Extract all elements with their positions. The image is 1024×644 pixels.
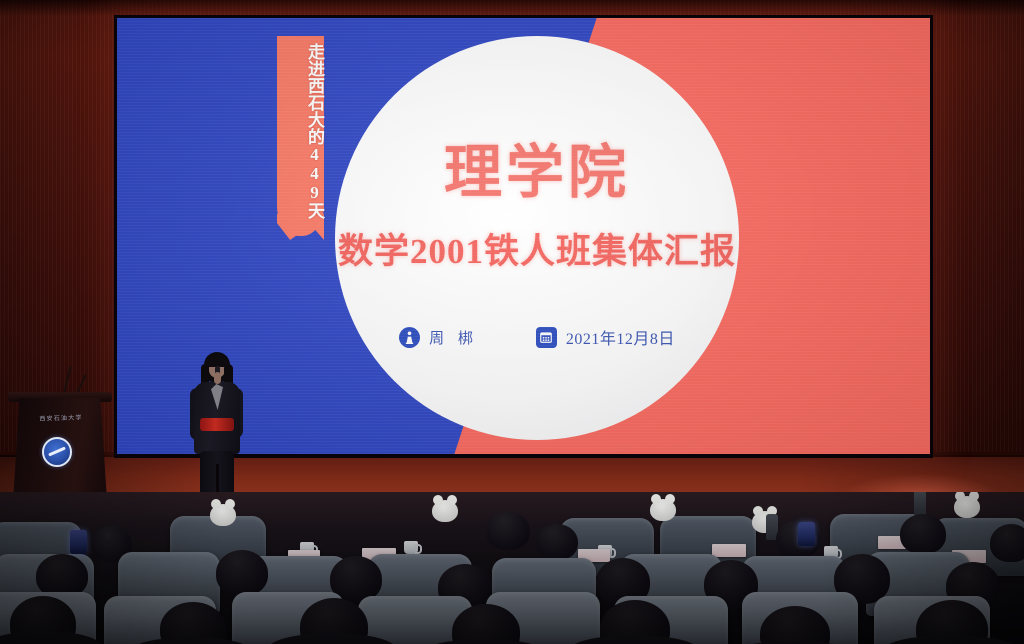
byline-date: 2021年12月8日 <box>536 325 675 349</box>
university-seal-icon <box>42 437 72 467</box>
name-card <box>712 544 746 557</box>
smartphone <box>70 530 87 554</box>
audience-head <box>536 524 578 560</box>
thermos-bottle <box>914 492 926 516</box>
slide-subtitle: 数学2001铁人班集体汇报 <box>307 232 767 272</box>
plush-toy <box>210 504 236 526</box>
plush-toy <box>954 496 980 518</box>
presentation-date: 2021年12月8日 <box>566 325 675 349</box>
slide-title: 理学院 <box>334 142 740 204</box>
plush-toy <box>432 500 458 522</box>
presenter-hand <box>214 372 221 384</box>
slide-byline: 周 梆 2021年12月8日 <box>334 325 740 349</box>
podium-speaker-icon <box>399 327 420 348</box>
audience-head <box>990 524 1024 562</box>
audience-area <box>0 492 1024 644</box>
auditorium-scene: 走进西石大的449天 理学院 数学2001铁人班集体汇报 周 梆 <box>0 0 1024 644</box>
presenter-name: 周 梆 <box>429 327 478 348</box>
slide-ribbon-text: 走进西石大的449天 <box>277 42 324 220</box>
audience-head <box>486 512 530 550</box>
audience-head <box>216 550 268 596</box>
smartphone <box>798 522 815 546</box>
audience-head <box>900 514 946 554</box>
mug <box>404 541 418 554</box>
byline-presenter: 周 梆 <box>399 327 478 348</box>
calendar-icon <box>536 327 557 348</box>
plush-toy <box>650 499 676 521</box>
presenter-red-sash <box>200 418 234 431</box>
